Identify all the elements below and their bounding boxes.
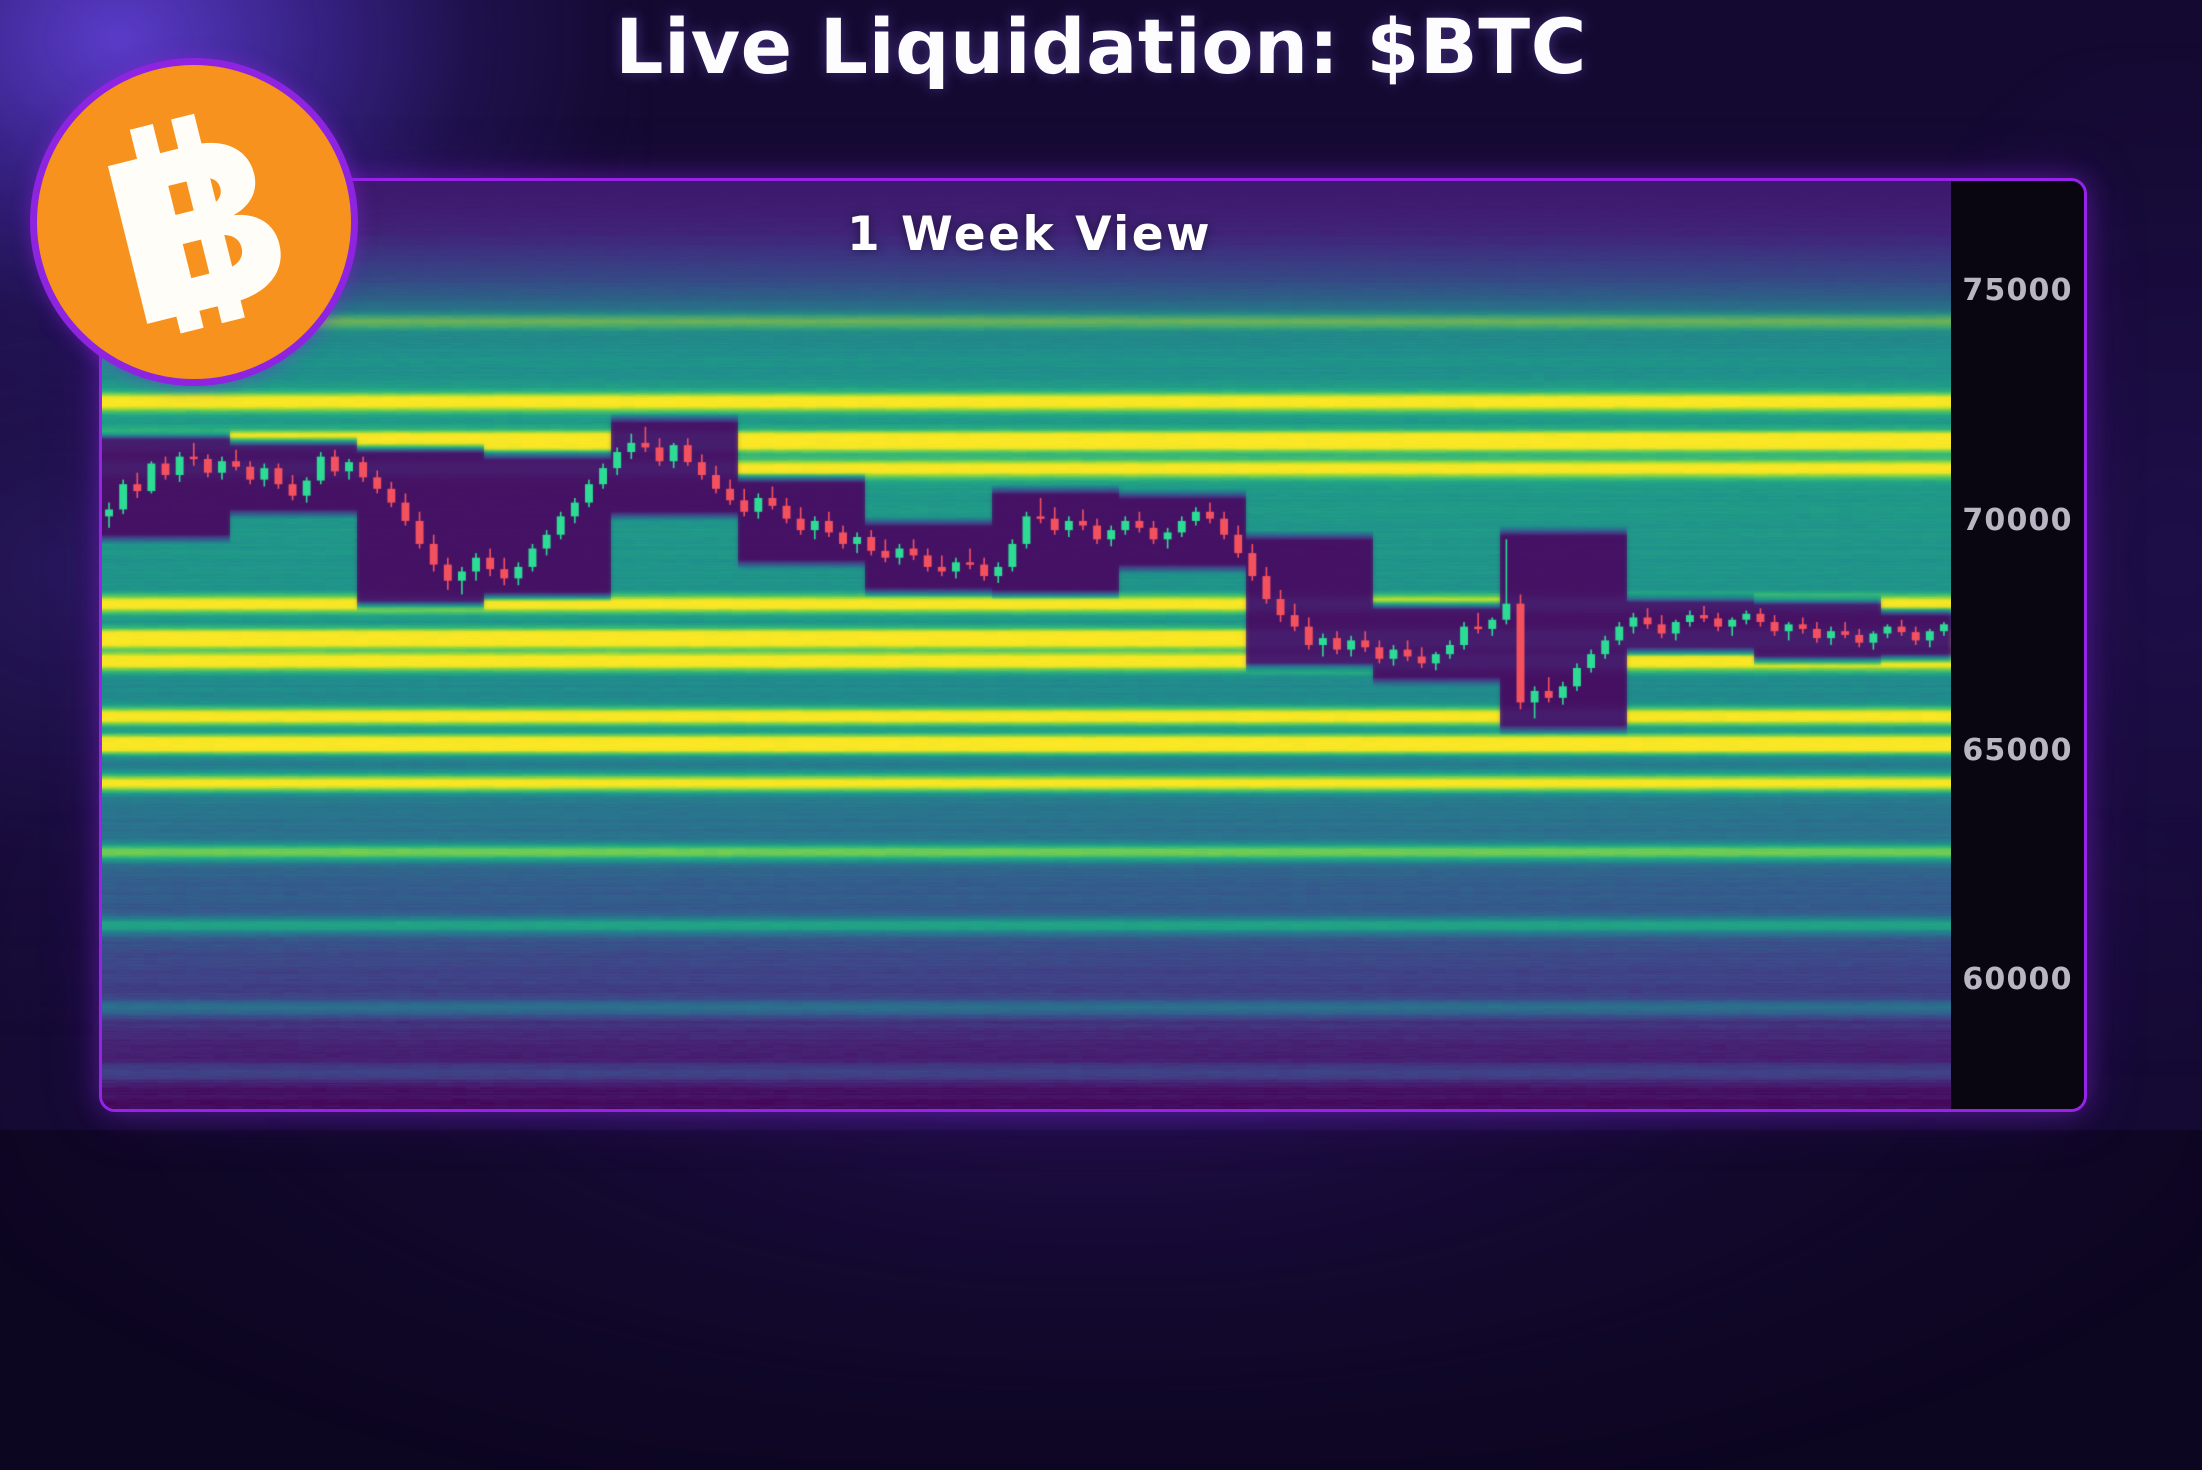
bitcoin-logo bbox=[30, 58, 358, 386]
price-axis-tick: 65000 bbox=[1951, 734, 2084, 768]
price-axis-panel[interactable]: 75000700006500060000 bbox=[1951, 181, 2084, 1109]
page-title: Live Liquidation: $BTC bbox=[0, 4, 2202, 90]
chart-subtitle: 1 Week View bbox=[102, 207, 1957, 263]
price-axis-tick: 75000 bbox=[1951, 274, 2084, 308]
liquidation-heatmap-canvas[interactable] bbox=[102, 181, 2084, 1109]
price-axis-tick: 60000 bbox=[1951, 963, 2084, 997]
bitcoin-symbol-icon bbox=[69, 97, 319, 347]
liquidation-heatmap-chart[interactable]: 1 Week View 75000700006500060000 bbox=[99, 178, 2087, 1112]
price-axis-tick: 70000 bbox=[1951, 504, 2084, 538]
